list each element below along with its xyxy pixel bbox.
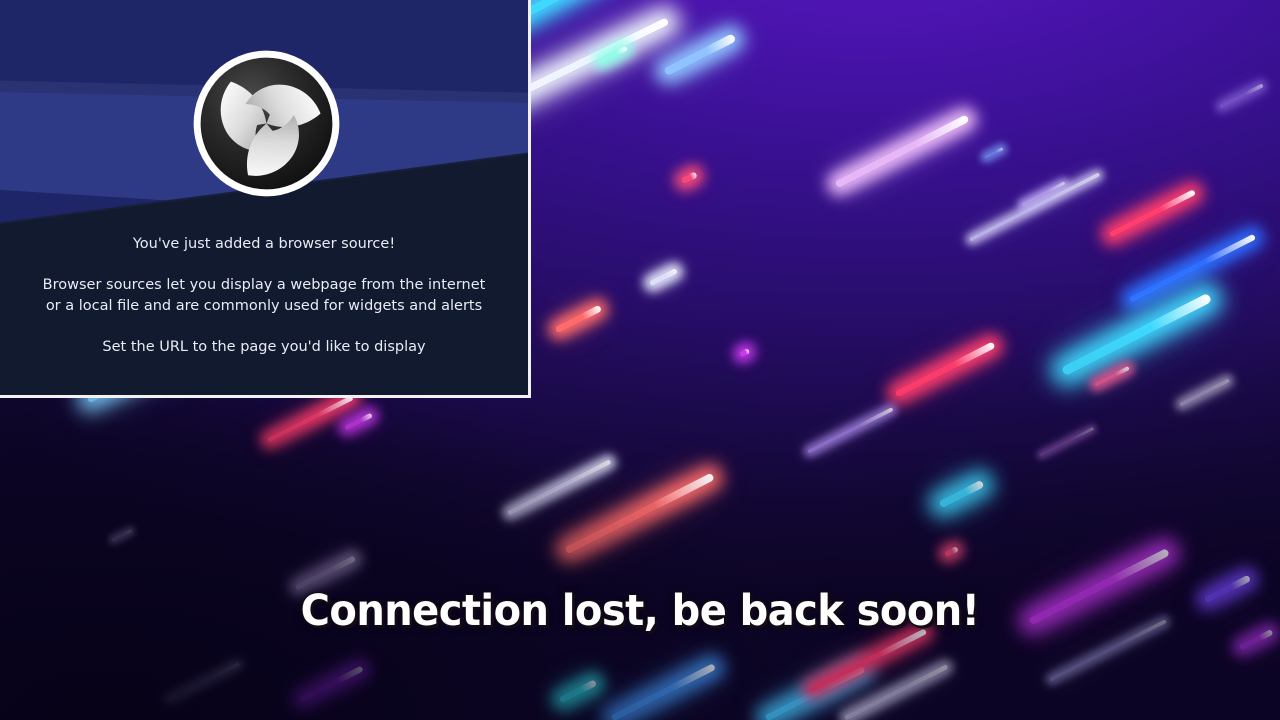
neon-streak — [299, 666, 364, 703]
browser-source-panel-background: You've just added a browser source! Brow… — [0, 0, 528, 395]
neon-streak — [938, 480, 984, 509]
neon-streak — [507, 459, 612, 516]
neon-streak — [680, 171, 697, 185]
neon-streak — [739, 348, 751, 358]
neon-streak — [111, 529, 132, 542]
neon-streak — [1129, 234, 1256, 303]
neon-streak — [1109, 189, 1196, 237]
neon-streak — [807, 407, 893, 454]
neon-streak — [984, 147, 1003, 159]
neon-streak — [1061, 293, 1213, 377]
neon-streak — [1179, 378, 1230, 407]
neon-streak — [1039, 426, 1094, 456]
neon-streak — [344, 412, 373, 430]
obs-studio-logo — [189, 46, 344, 201]
neon-streak — [167, 662, 240, 702]
browser-source-panel[interactable]: You've just added a browser source! Brow… — [0, 0, 531, 398]
neon-streak — [944, 546, 959, 558]
neon-streak — [554, 304, 602, 333]
neon-streak — [267, 395, 354, 443]
obs-preview-stage: Connection lost, be back soon! — [0, 0, 1280, 720]
neon-streak — [1219, 83, 1264, 108]
browser-source-footer: Set the URL to the page you'd like to di… — [0, 339, 528, 356]
neon-streak — [764, 665, 865, 720]
neon-streak — [558, 679, 597, 703]
neon-streak — [1239, 629, 1274, 651]
neon-streak — [1094, 366, 1130, 387]
neon-streak — [1021, 181, 1065, 205]
neon-streak — [663, 33, 737, 76]
neon-streak — [610, 663, 716, 720]
connection-lost-banner: Connection lost, be back soon! — [45, 586, 1235, 636]
neon-streak — [809, 628, 928, 692]
neon-streak — [969, 172, 1100, 241]
browser-source-body-line-2: or a local file and are commonly used fo… — [46, 298, 482, 314]
neon-streak — [599, 45, 628, 63]
browser-source-body-line-1: Browser sources let you display a webpag… — [43, 277, 486, 293]
neon-streak — [834, 114, 970, 188]
browser-source-body: Browser sources let you display a webpag… — [0, 275, 528, 316]
neon-streak — [844, 664, 949, 720]
browser-source-copy: You've just added a browser source! Brow… — [0, 236, 528, 356]
neon-streak — [894, 341, 995, 397]
browser-source-headline: You've just added a browser source! — [0, 236, 528, 253]
neon-streak — [649, 268, 678, 287]
neon-streak — [564, 473, 715, 555]
